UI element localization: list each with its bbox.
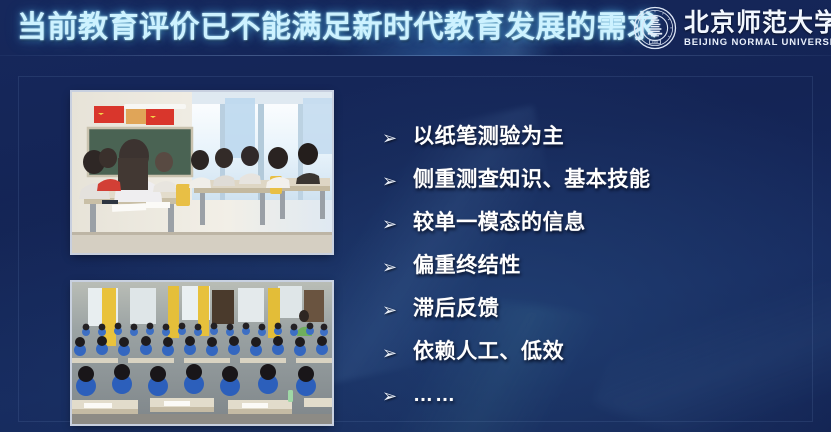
arrow-bullet-icon: ➢ bbox=[382, 382, 401, 405]
bnu-seal-icon: 1902 bbox=[633, 6, 677, 50]
arrow-bullet-icon: ➢ bbox=[382, 339, 401, 362]
arrow-bullet-icon: ➢ bbox=[382, 124, 401, 147]
list-item: ➢ 依赖人工、低效 bbox=[382, 339, 802, 382]
presentation-slide: 当前教育评价已不能满足新时代教育发展的需求 bbox=[0, 0, 831, 432]
list-item-label: 较单一模态的信息 bbox=[413, 210, 586, 236]
svg-text:1902: 1902 bbox=[652, 40, 659, 44]
list-item: ➢ 侧重测查知识、基本技能 bbox=[382, 167, 802, 210]
list-item-label: 滞后反馈 bbox=[413, 296, 499, 322]
list-item: ➢ …… bbox=[382, 382, 802, 425]
large-hall-exam-photo bbox=[72, 282, 332, 424]
list-item: ➢ 以纸笔测验为主 bbox=[382, 124, 802, 167]
arrow-bullet-icon: ➢ bbox=[382, 167, 401, 190]
list-item-label: 以纸笔测验为主 bbox=[413, 124, 564, 150]
list-item: ➢ 偏重终结性 bbox=[382, 253, 802, 296]
university-name-cn: 北京师范大学 bbox=[684, 9, 831, 36]
page-title: 当前教育评价已不能满足新时代教育发展的需求 bbox=[17, 9, 658, 47]
university-logo: 1902 北京师范大学 BEIJING NORMAL UNIVERSITY bbox=[633, 3, 825, 53]
university-logo-text: 北京师范大学 BEIJING NORMAL UNIVERSITY bbox=[684, 8, 831, 49]
arrow-bullet-icon: ➢ bbox=[382, 296, 401, 319]
bullet-list: ➢ 以纸笔测验为主 ➢ 侧重测查知识、基本技能 ➢ 较单一模态的信息 ➢ 偏重终… bbox=[382, 124, 802, 425]
list-item: ➢ 较单一模态的信息 bbox=[382, 210, 802, 253]
list-item: ➢ 滞后反馈 bbox=[382, 296, 802, 339]
classroom-exam-photo bbox=[72, 92, 332, 253]
list-item-label: 侧重测查知识、基本技能 bbox=[413, 167, 651, 193]
header-divider bbox=[0, 55, 831, 56]
list-item-label: 依赖人工、低效 bbox=[413, 339, 564, 365]
arrow-bullet-icon: ➢ bbox=[382, 210, 401, 233]
list-item-label: 偏重终结性 bbox=[413, 253, 521, 279]
university-name-en: BEIJING NORMAL UNIVERSITY bbox=[684, 37, 831, 49]
arrow-bullet-icon: ➢ bbox=[382, 253, 401, 276]
list-item-label: …… bbox=[413, 382, 457, 408]
